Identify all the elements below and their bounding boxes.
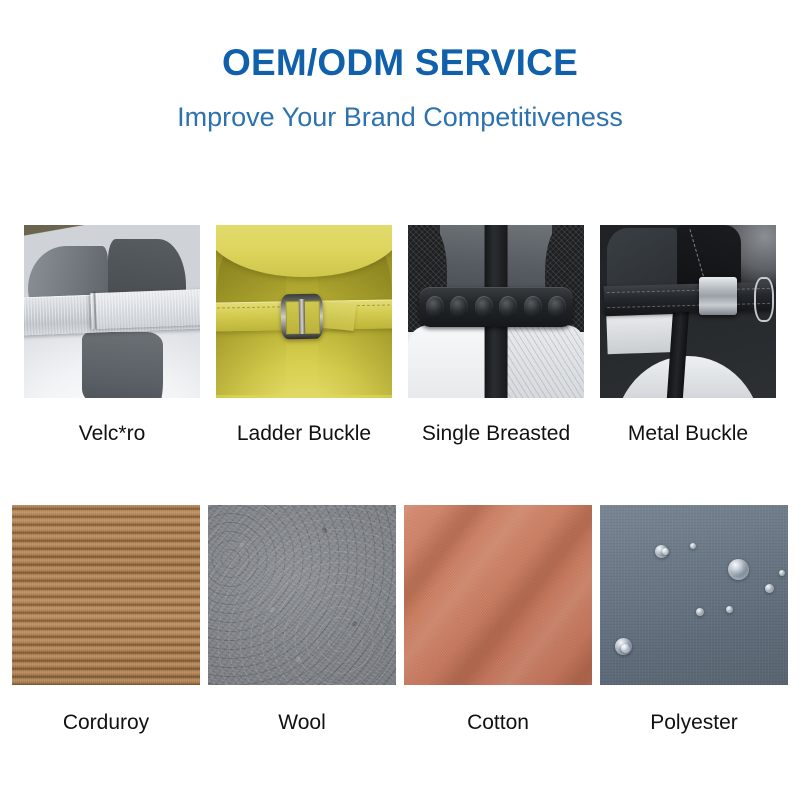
snap-hole	[450, 296, 468, 318]
card-label: Polyester	[650, 685, 738, 733]
cap-panel-bottom	[82, 332, 163, 398]
water-droplet	[779, 570, 785, 576]
card-label: Corduroy	[63, 685, 149, 733]
snap-hole	[475, 296, 493, 318]
page-subtitle: Improve Your Brand Competitiveness	[0, 83, 800, 131]
product-card-metal-buckle[interactable]: omliq Metal Buckle	[600, 225, 776, 444]
product-card-polyester[interactable]: Polyester	[600, 505, 788, 733]
fabric-types-row: Corduroy Wool Cotton Polyester	[12, 505, 788, 733]
product-card-cotton[interactable]: Cotton	[404, 505, 592, 733]
card-label: Cotton	[467, 685, 529, 733]
yellow-cap-ladder-buckle-photo	[216, 225, 392, 398]
blue-grey-polyester-water-drops-swatch	[600, 505, 788, 685]
oem-odm-service-page: OEM/ODM SERVICE Improve Your Brand Compe…	[0, 0, 800, 800]
product-card-velcro[interactable]: Velc*ro	[24, 225, 200, 444]
product-card-ladder-buckle[interactable]: Ladder Buckle	[216, 225, 392, 444]
water-droplet	[690, 543, 696, 549]
water-droplet	[621, 644, 630, 653]
snap-hole	[426, 296, 444, 318]
grey-felted-wool-fabric-swatch	[208, 505, 396, 685]
metal-clamp-buckle	[699, 277, 738, 315]
water-droplet	[696, 608, 704, 616]
salmon-cotton-fabric-folds-swatch	[404, 505, 592, 685]
snap-hole	[548, 296, 566, 318]
tan-corduroy-fabric-swatch	[12, 505, 200, 685]
product-card-corduroy[interactable]: Corduroy	[12, 505, 200, 733]
dark-cap-metal-clamp-buckle-photo: omliq	[600, 225, 776, 398]
water-droplet	[662, 548, 669, 555]
product-card-single-breasted[interactable]: Single Breasted	[408, 225, 584, 444]
black-snapback-closure-photo	[408, 225, 584, 398]
card-label: Wool	[278, 685, 325, 733]
snap-hole-group	[426, 296, 567, 318]
page-title: OEM/ODM SERVICE	[0, 0, 800, 83]
snap-hole	[524, 296, 542, 318]
card-label: Metal Buckle	[628, 398, 748, 444]
water-droplet	[728, 559, 749, 580]
snap-hole	[499, 296, 517, 318]
ladder-buckle-center-bar	[299, 299, 306, 334]
cap-brim-arc: omliq	[614, 356, 762, 398]
water-droplet	[726, 606, 733, 613]
white-cap-velcro-strap-photo	[24, 225, 200, 398]
card-label: Velc*ro	[79, 398, 146, 444]
white-panel-left	[408, 325, 489, 398]
page-header: OEM/ODM SERVICE Improve Your Brand Compe…	[0, 0, 800, 131]
card-label: Ladder Buckle	[237, 398, 371, 444]
white-panel-right	[503, 325, 584, 398]
leather-strap	[603, 282, 773, 314]
velcro-strap-overlap	[90, 288, 200, 329]
metal-end-ring	[754, 277, 774, 323]
product-card-wool[interactable]: Wool	[208, 505, 396, 733]
card-label: Single Breasted	[422, 398, 570, 444]
closure-types-row: Velc*ro Ladder Buckle	[24, 225, 776, 444]
water-droplet	[765, 584, 774, 593]
